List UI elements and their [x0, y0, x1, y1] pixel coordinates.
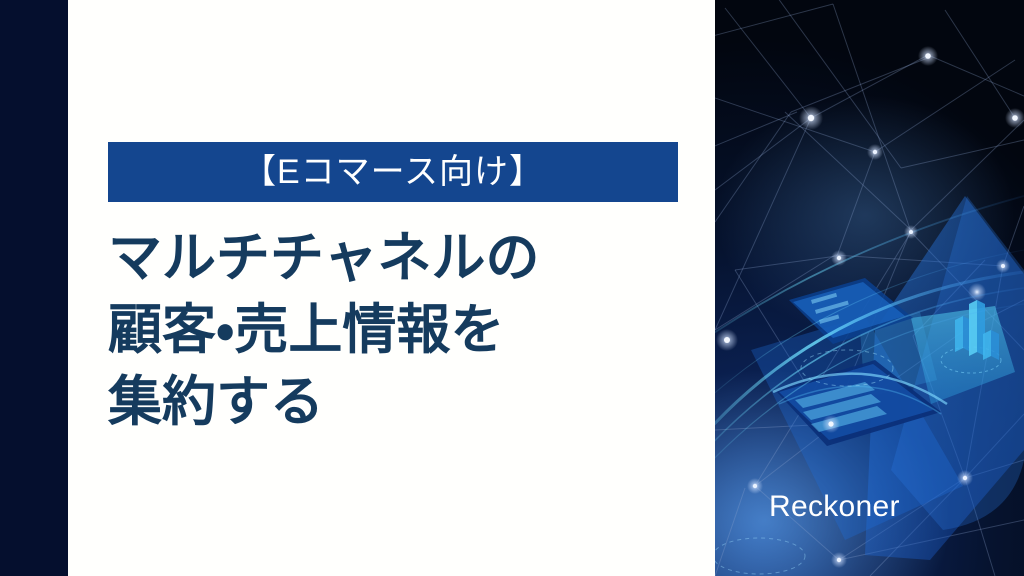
- eyebrow-badge: 【Eコマース向け】: [108, 142, 678, 202]
- reckoner-cube-logo-icon: [769, 492, 1024, 576]
- headline-line-3: 集約する: [108, 366, 708, 438]
- page-title: マルチチャネルの 顧客・売上情報を 集約する: [108, 222, 708, 438]
- logo-lockup: Reckoner: [769, 492, 900, 522]
- headline-line-2: 顧客・売上情報を: [108, 294, 708, 366]
- slide-canvas: 【Eコマース向け】 マルチチャネルの 顧客・売上情報を 集約する: [0, 0, 1024, 576]
- eyebrow-badge-label: 【Eコマース向け】: [242, 155, 544, 189]
- left-accent-stripe: [0, 0, 68, 576]
- content-panel: 【Eコマース向け】 マルチチャネルの 顧客・売上情報を 集約する: [68, 0, 715, 576]
- hero-image: Reckoner: [715, 0, 1024, 576]
- headline-line-1: マルチチャネルの: [108, 222, 708, 294]
